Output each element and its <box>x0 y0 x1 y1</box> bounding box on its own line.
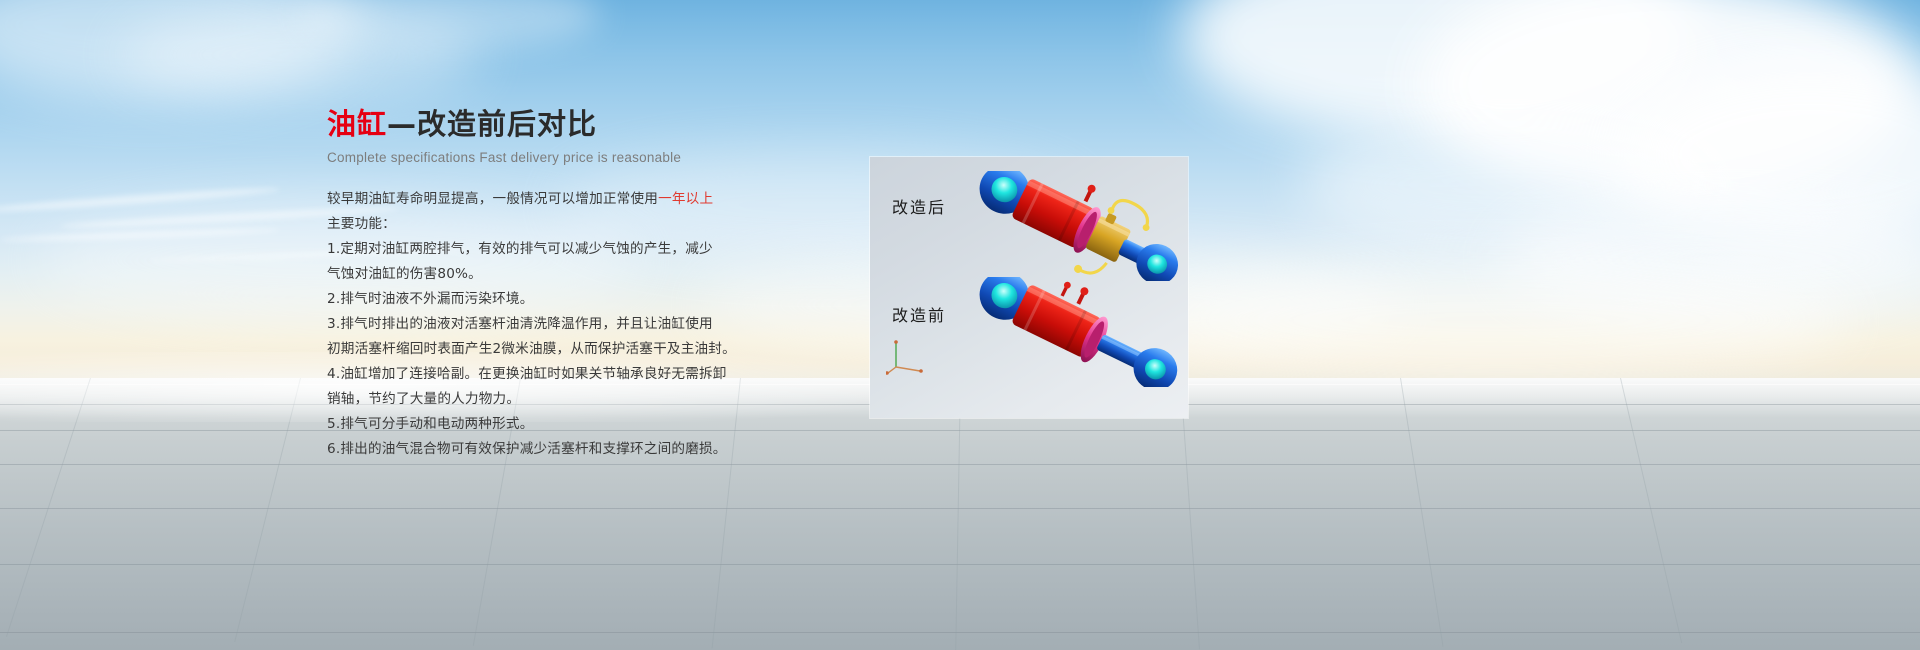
pavement-seam <box>1400 378 1444 647</box>
pavement-seam <box>234 378 301 642</box>
feature-list: 较早期油缸寿命明显提高，一般情况可以增加正常使用一年以上主要功能：1.定期对油缸… <box>327 187 747 462</box>
feature-line-text: 气蚀对油缸的伤害80%。 <box>327 266 482 282</box>
feature-line-text: 5.排气可分手动和电动两种形式。 <box>327 416 533 432</box>
hero-banner: 油缸—改造前后对比 Complete specifications Fast d… <box>0 0 1920 650</box>
pavement-seam <box>0 508 1920 509</box>
pavement-seam <box>1180 378 1200 649</box>
title-highlight: 油缸 <box>327 107 387 141</box>
feature-line: 主要功能： <box>327 212 747 237</box>
pavement-seam <box>1620 378 1682 643</box>
banner-copy: 油缸—改造前后对比 Complete specifications Fast d… <box>327 106 747 462</box>
feature-line-text: 主要功能： <box>327 216 396 232</box>
feature-line: 2.排气时油液不外漏而污染环境。 <box>327 287 747 312</box>
comparison-image-panel: 改造后 改造前 <box>870 157 1188 418</box>
pavement-seam <box>955 378 961 650</box>
feature-line-text: 1.定期对油缸两腔排气，有效的排气可以减少气蚀的产生，减少 <box>327 241 713 257</box>
feature-line-text: 4.油缸增加了连接哈副。在更换油缸时如果关节轴承良好无需拆卸 <box>327 366 727 382</box>
pavement-seam <box>0 564 1920 565</box>
label-after: 改造后 <box>892 194 946 218</box>
cylinder-render-before <box>970 277 1188 387</box>
cloud-shape <box>1150 260 1850 380</box>
axis-triad-icon <box>886 335 928 375</box>
feature-line-text: 6.排出的油气混合物可有效保护减少活塞杆和支撑环之间的磨损。 <box>327 441 727 457</box>
feature-line: 销轴，节约了大量的人力物力。 <box>327 387 747 412</box>
feature-line: 4.油缸增加了连接哈副。在更换油缸时如果关节轴承良好无需拆卸 <box>327 362 747 387</box>
feature-line: 较早期油缸寿命明显提高，一般情况可以增加正常使用一年以上 <box>327 187 747 212</box>
cylinder-render-after <box>970 171 1188 281</box>
page-subtitle: Complete specifications Fast delivery pr… <box>327 150 747 165</box>
feature-line-text: 3.排气时排出的油液对活塞杆油清洗降温作用，并且让油缸使用 <box>327 316 713 332</box>
feature-line: 初期活塞杆缩回时表面产生2微米油膜，从而保护活塞干及主油封。 <box>327 337 747 362</box>
feature-line-highlight: 一年以上 <box>658 191 713 207</box>
title-rest: —改造前后对比 <box>387 107 597 141</box>
feature-line-text: 销轴，节约了大量的人力物力。 <box>327 391 520 407</box>
feature-line: 气蚀对油缸的伤害80%。 <box>327 262 747 287</box>
feature-line-text: 初期活塞杆缩回时表面产生2微米油膜，从而保护活塞干及主油封。 <box>327 341 736 357</box>
page-title: 油缸—改造前后对比 <box>327 106 747 142</box>
feature-line: 6.排出的油气混合物可有效保护减少活塞杆和支撑环之间的磨损。 <box>327 437 747 462</box>
feature-line: 3.排气时排出的油液对活塞杆油清洗降温作用，并且让油缸使用 <box>327 312 747 337</box>
pavement-background <box>0 378 1920 650</box>
pavement-seam <box>0 632 1920 633</box>
feature-line: 1.定期对油缸两腔排气，有效的排气可以减少气蚀的产生，减少 <box>327 237 747 262</box>
feature-line: 5.排气可分手动和电动两种形式。 <box>327 412 747 437</box>
feature-line-text: 2.排气时油液不外漏而污染环境。 <box>327 291 533 307</box>
feature-line-text: 较早期油缸寿命明显提高，一般情况可以增加正常使用 <box>327 191 658 207</box>
label-before: 改造前 <box>892 302 946 326</box>
pavement-seam <box>0 464 1920 465</box>
